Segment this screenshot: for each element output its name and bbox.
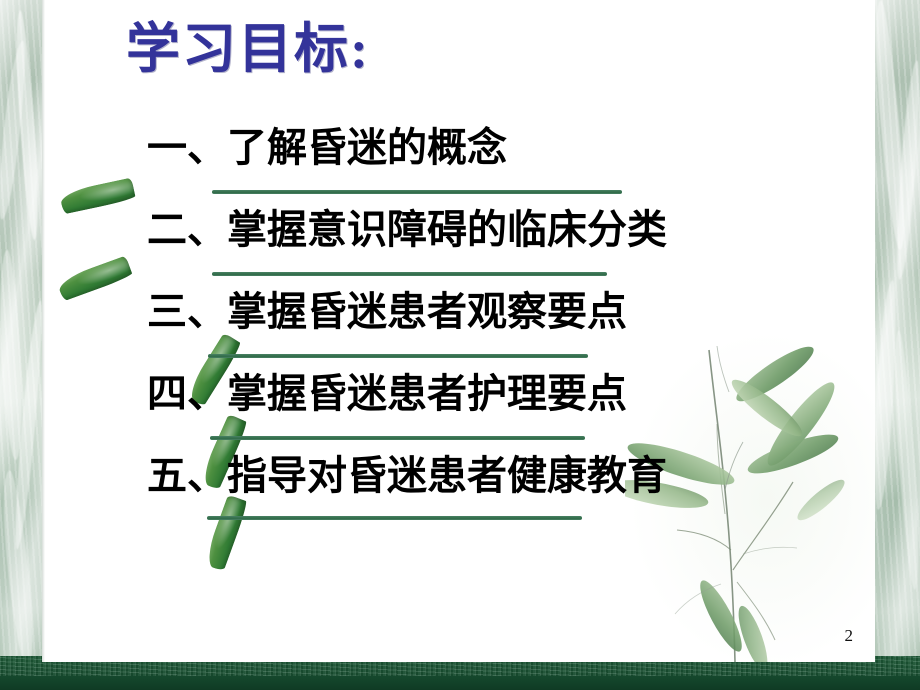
left-decorative-band	[0, 0, 42, 690]
objective-text: 四、掌握昏迷患者护理要点	[147, 368, 627, 419]
right-band-texture	[875, 0, 920, 690]
slide-content-card: 学习目标: 一、了解昏迷的概念 二、掌握意识障碍的临床分类 三、掌握昏迷患者观察…	[42, 0, 875, 662]
objective-text: 一、了解昏迷的概念	[147, 122, 507, 173]
objective-text: 五、指导对昏迷患者健康教育	[147, 450, 667, 501]
objective-underline	[207, 516, 582, 520]
objectives-list: 一、了解昏迷的概念 二、掌握意识障碍的临床分类 三、掌握昏迷患者观察要点 四、掌…	[42, 122, 875, 532]
band-leaf-shape	[890, 330, 920, 590]
band-leaf-shape	[11, 300, 46, 550]
objective-text: 三、掌握昏迷患者观察要点	[147, 286, 627, 337]
page-title: 学习目标:	[126, 18, 370, 80]
list-item: 一、了解昏迷的概念	[42, 122, 875, 204]
band-leaf-shape	[871, 280, 899, 511]
slide-canvas: 学习目标: 一、了解昏迷的概念 二、掌握意识障碍的临床分类 三、掌握昏迷患者观察…	[0, 0, 920, 690]
band-leaf-shape	[12, 10, 42, 240]
left-band-texture	[0, 0, 42, 690]
band-leaf-shape	[893, 60, 920, 280]
right-decorative-band	[875, 0, 920, 690]
list-item: 三、掌握昏迷患者观察要点	[42, 286, 875, 368]
band-leaf-shape	[0, 250, 25, 461]
objective-underline	[212, 190, 622, 194]
leaf-bullet-icon	[203, 494, 249, 571]
list-item: 五、指导对昏迷患者健康教育	[42, 450, 875, 532]
page-number: 2	[845, 626, 854, 646]
objective-underline	[212, 272, 607, 276]
list-item: 四、掌握昏迷患者护理要点	[42, 368, 875, 450]
objective-text: 二、掌握意识障碍的临床分类	[147, 204, 667, 255]
band-leaf-shape	[0, 40, 29, 221]
band-leaf-shape	[0, 470, 38, 671]
objective-underline	[208, 354, 588, 358]
list-item: 二、掌握意识障碍的临床分类	[42, 204, 875, 286]
bottom-band-shadow	[0, 676, 920, 690]
band-leaf-shape	[870, 0, 910, 250]
objective-underline	[210, 436, 585, 440]
